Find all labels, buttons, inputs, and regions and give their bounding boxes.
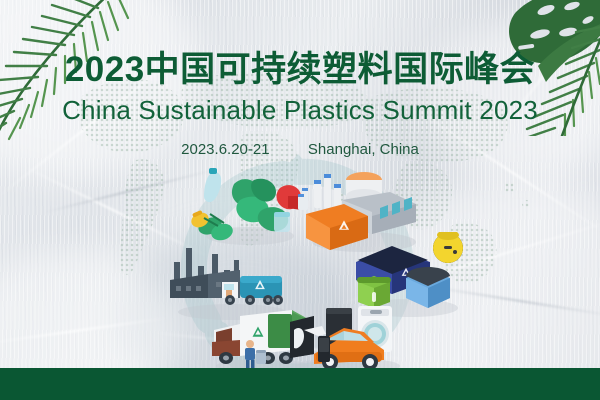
event-poster: 2023中国可持续塑料国际峰会 China Sustainable Plasti… bbox=[0, 0, 600, 400]
page-title-chinese: 2023中国可持续塑料国际峰会 bbox=[0, 50, 600, 90]
poster-headline: 2023中国可持续塑料国际峰会 China Sustainable Plasti… bbox=[0, 50, 600, 159]
car-and-appliances-illustration bbox=[288, 300, 410, 374]
event-meta: 2023.6.20-21 Shanghai, China bbox=[0, 141, 600, 159]
page-title-english: China Sustainable Plastics Summit 2023 bbox=[0, 95, 600, 125]
event-location: Shanghai, China bbox=[308, 141, 419, 158]
event-date: 2023.6.20-21 bbox=[181, 141, 269, 158]
footer-green-bar bbox=[0, 368, 600, 400]
